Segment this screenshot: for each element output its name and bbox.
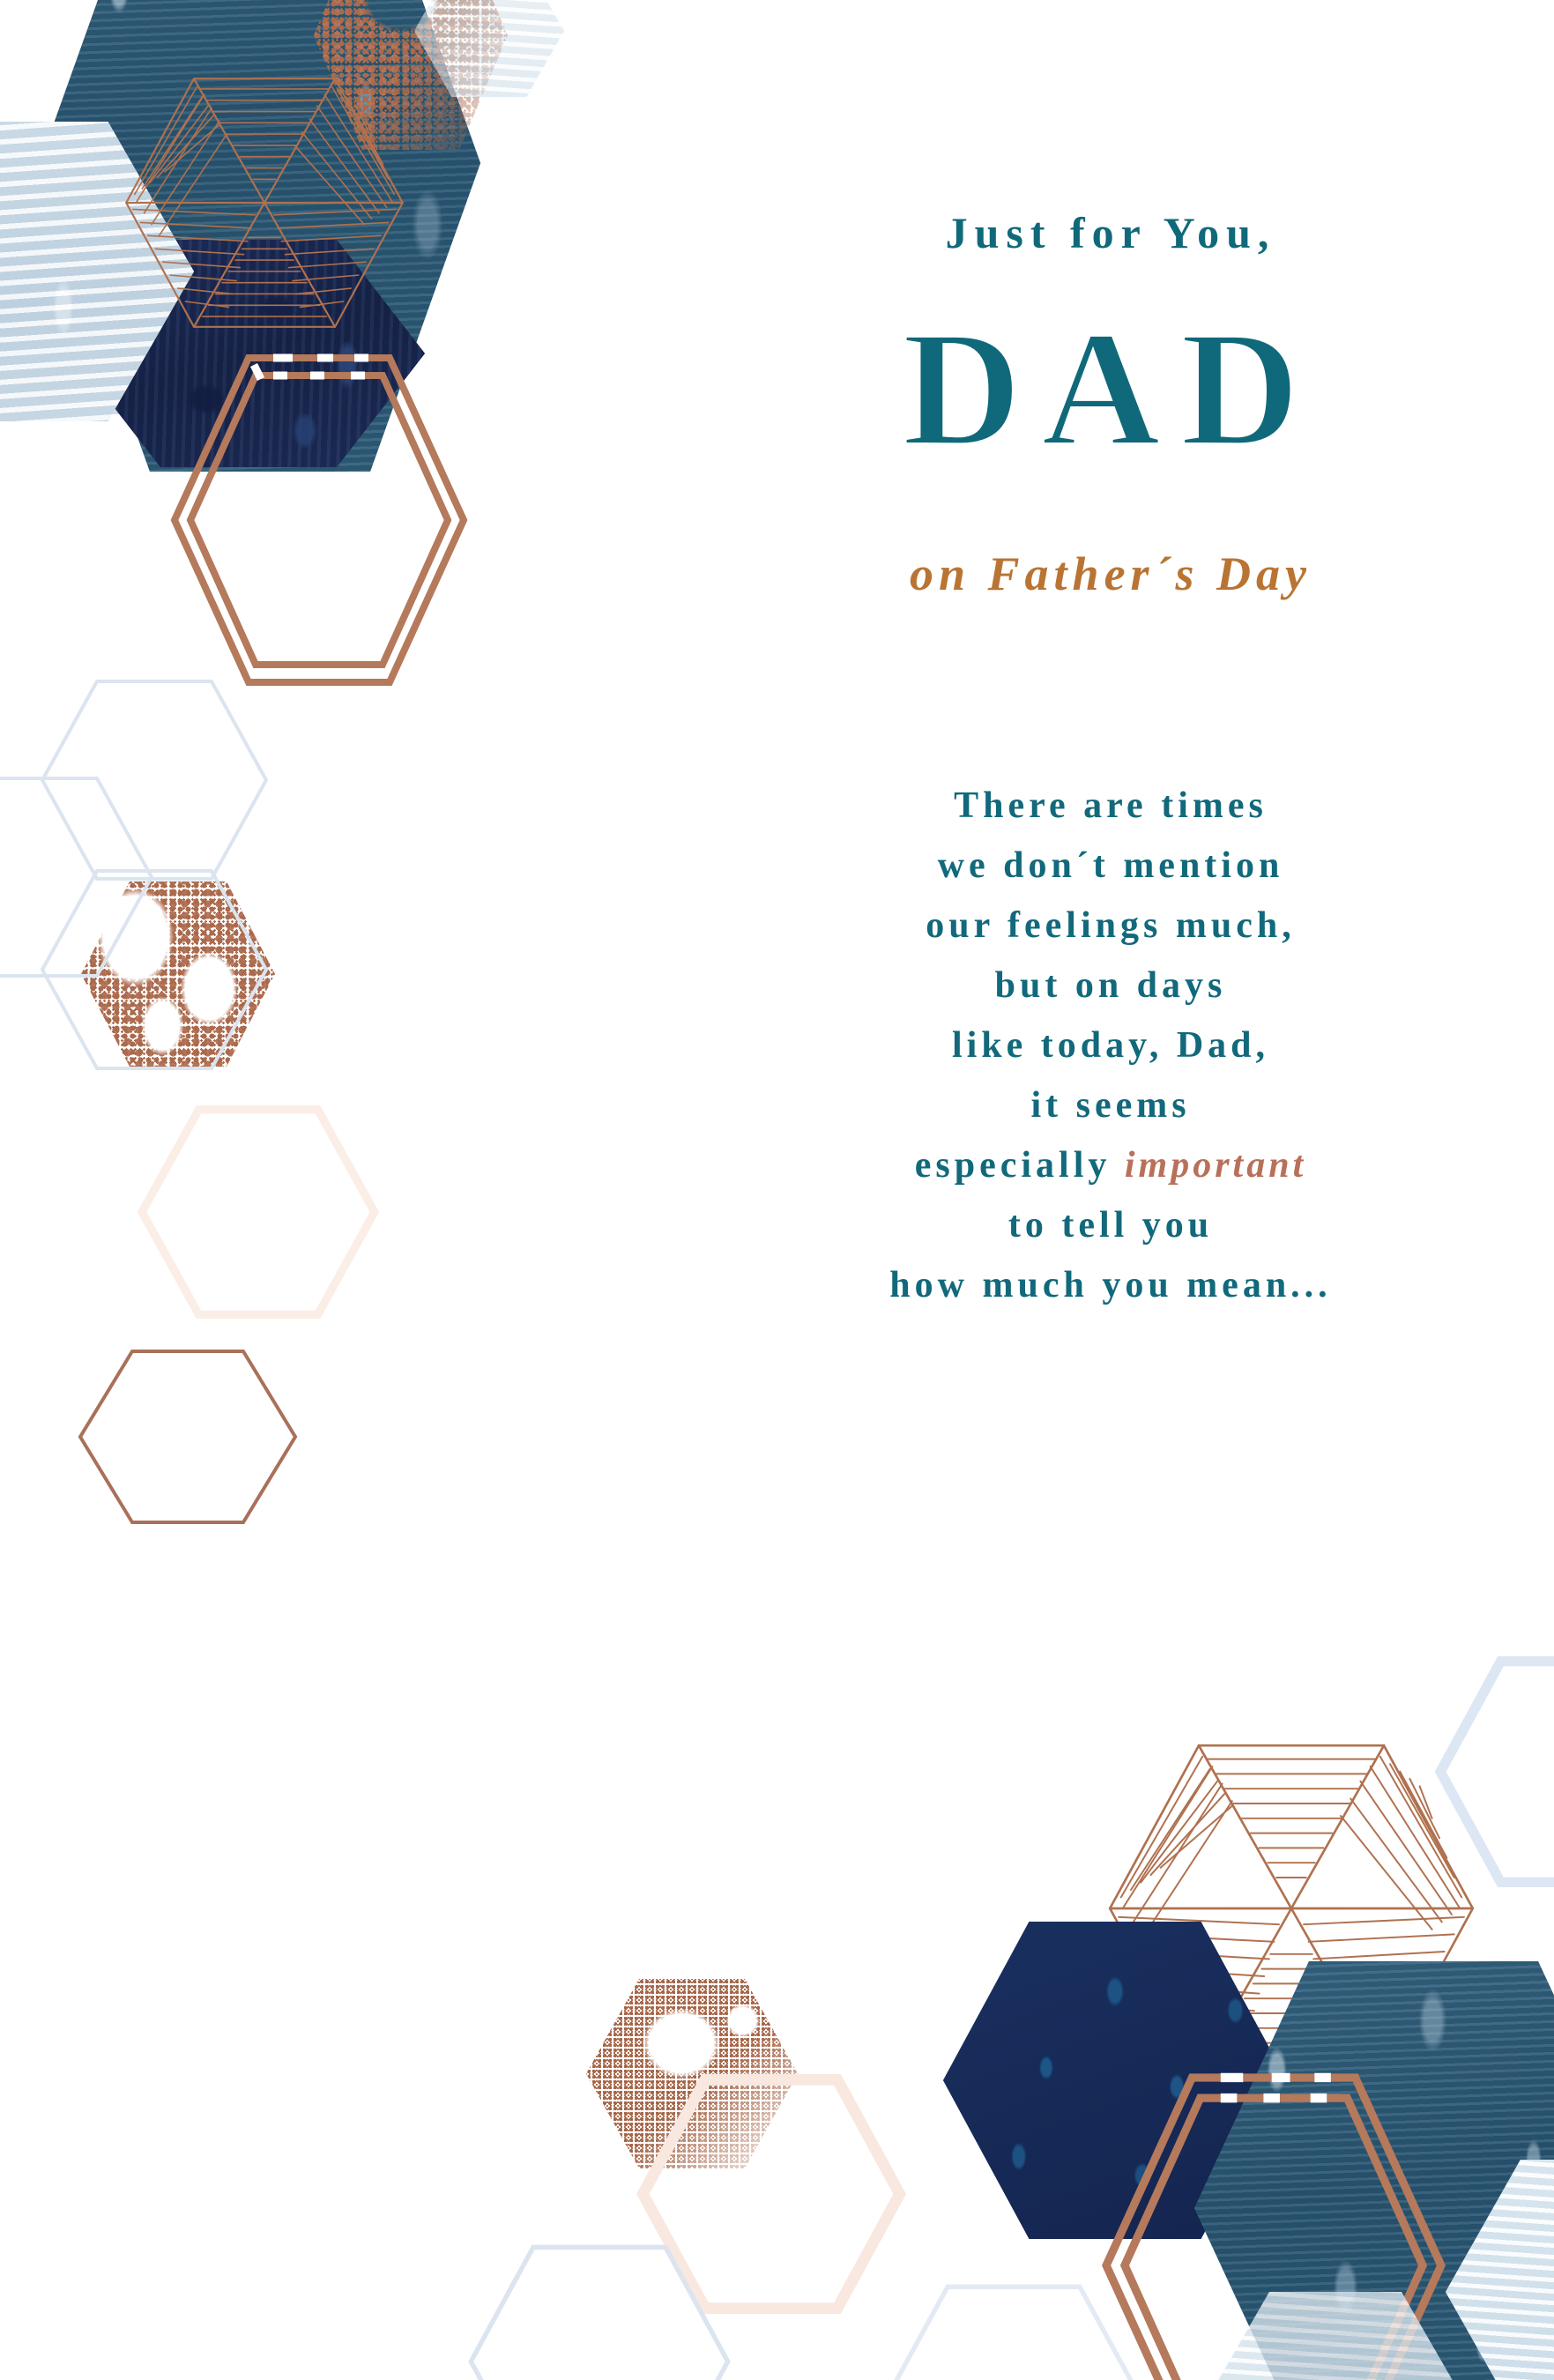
hex-outline-blue-bottom-2: [881, 2283, 1146, 2380]
hex-copper-line-art-top: [123, 75, 405, 331]
verse-line: our feelings much,: [776, 896, 1446, 956]
greeting-card-front: Just for You, DAD DAD on Father´s Day Th…: [0, 0, 1554, 2380]
verse-line-emphasis: especially important: [776, 1135, 1446, 1195]
verse-line: we don´t mention: [776, 836, 1446, 896]
verse-block: There are times we don´t mention our fee…: [776, 776, 1446, 1315]
hex-outline-blue-3: [40, 868, 269, 1071]
verse-line: but on days: [776, 956, 1446, 1015]
headline-dad-inline-stroke: DAD: [776, 296, 1446, 482]
subtitle-text: on Father´s Day: [776, 547, 1446, 601]
verse-line: it seems: [776, 1075, 1446, 1135]
hex-outline-peach: [139, 1106, 377, 1318]
hex-outline-copper: [78, 1349, 298, 1525]
hex-copper-double-outline-top: [169, 353, 469, 688]
verse-line: how much you mean...: [776, 1255, 1446, 1315]
headline-dad: DAD DAD: [776, 296, 1446, 481]
eyebrow-text: Just for You,: [776, 207, 1446, 258]
verse-line: to tell you: [776, 1195, 1446, 1255]
hex-outline-blue-bottom: [467, 2243, 732, 2380]
verse-line: There are times: [776, 776, 1446, 836]
verse-emphasis-word: important: [1125, 1145, 1306, 1186]
verse-line: like today, Dad,: [776, 1015, 1446, 1075]
